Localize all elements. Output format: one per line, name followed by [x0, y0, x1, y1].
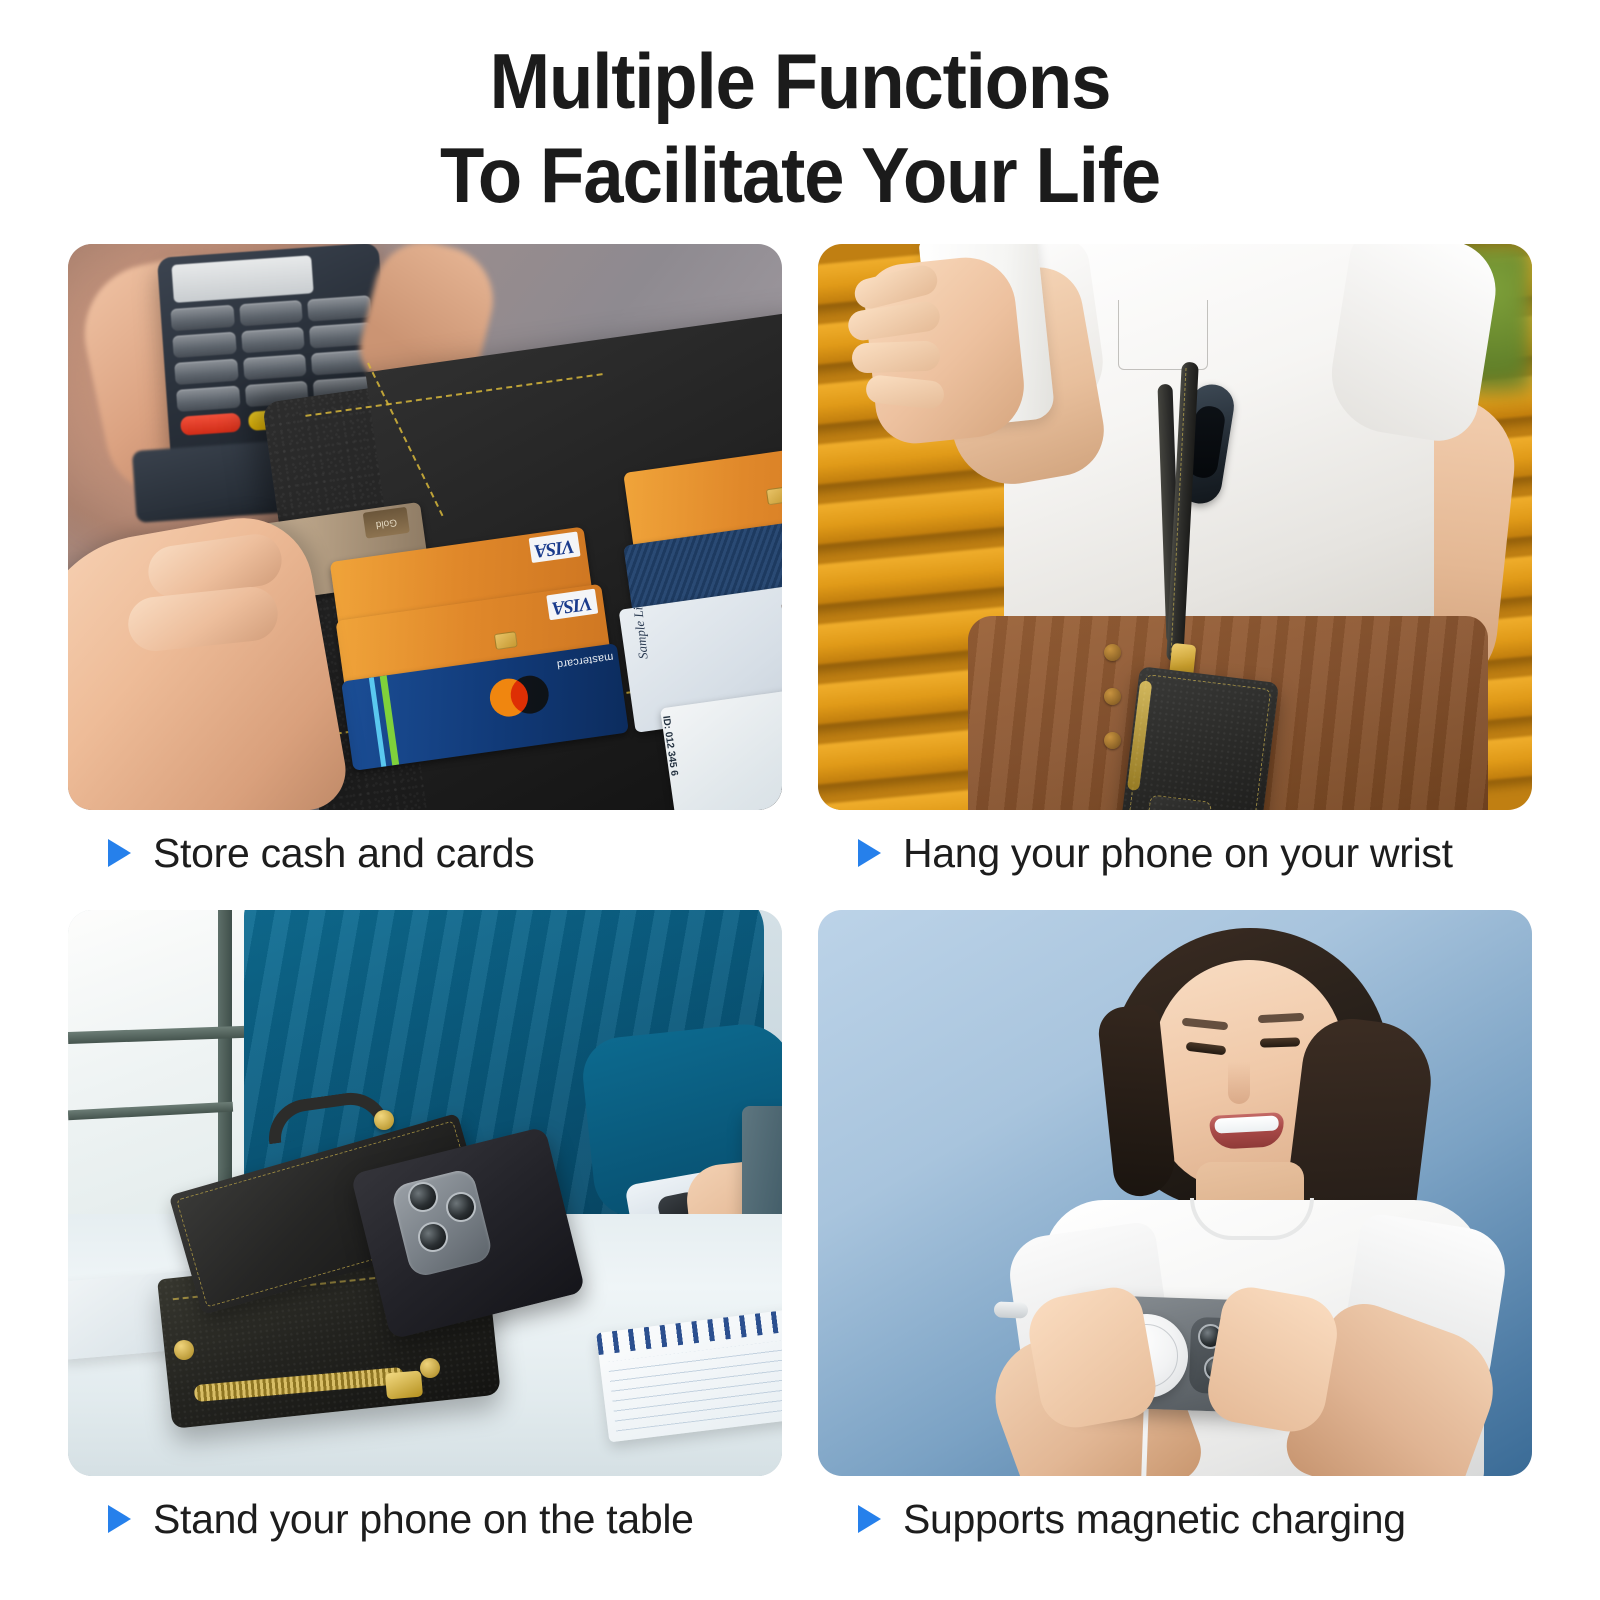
terminal-key: [243, 354, 307, 380]
terminal-key: [241, 327, 305, 353]
feature-cell-store-cash-and-cards: VISA Sample License DRL ID: 012 345 6 Go…: [68, 244, 782, 810]
phone-button: [994, 1301, 1029, 1318]
terminal-key: [172, 332, 236, 358]
caption-label: Store cash and cards: [153, 830, 534, 876]
feature-cell-hang-your-phone-on-your-wrist: Hang your phone on your wrist: [818, 244, 1532, 810]
terminal-cancel-button-red: [180, 413, 241, 436]
wallet-snap-flap: [1144, 794, 1212, 810]
caption-stand-your-phone-on-the-table: Stand your phone on the table: [108, 1496, 694, 1542]
caption-store-cash-and-cards: Store cash and cards: [108, 830, 534, 876]
wallet-stitching: [1125, 674, 1272, 810]
skirt-button: [1104, 688, 1121, 705]
snap-stud-icon: [374, 1110, 394, 1130]
id-photo: [781, 593, 782, 690]
photo-stand-your-phone-on-the-table: [68, 910, 782, 1476]
caption-label: Supports magnetic charging: [903, 1496, 1406, 1542]
feature-grid: VISA Sample License DRL ID: 012 345 6 Go…: [68, 244, 1532, 1476]
feature-cell-supports-magnetic-charging: Supports magnetic charging: [818, 910, 1532, 1476]
marketing-infographic: Multiple Functions To Facilitate Your Li…: [0, 0, 1600, 1600]
finger: [852, 340, 941, 373]
terminal-key: [174, 359, 238, 385]
visa-logo: VISA: [546, 589, 598, 621]
nose: [1228, 1062, 1250, 1104]
caption-supports-magnetic-charging: Supports magnetic charging: [858, 1496, 1406, 1542]
eye: [1260, 1037, 1300, 1047]
skirt-button: [1104, 644, 1121, 661]
title-line-1: Multiple Functions: [56, 34, 1544, 128]
bullet-triangle-icon: [108, 1505, 131, 1533]
caption-label: Stand your phone on the table: [153, 1496, 694, 1542]
bullet-triangle-icon: [858, 1505, 881, 1533]
mastercard-wordmark: mastercard: [556, 651, 614, 671]
bullet-triangle-icon: [858, 839, 881, 867]
terminal-key: [239, 300, 303, 326]
teeth: [1214, 1115, 1279, 1133]
photo-supports-magnetic-charging: [818, 910, 1532, 1476]
blouse-pocket: [1118, 300, 1208, 370]
terminal-key: [170, 305, 234, 331]
skirt-button: [1104, 732, 1121, 749]
page-title: Multiple Functions To Facilitate Your Li…: [0, 34, 1600, 222]
card-chip-icon: [766, 486, 782, 505]
terminal-key: [307, 295, 371, 321]
terminal-key: [176, 386, 240, 412]
case-eyelet: [174, 1340, 194, 1360]
feature-cell-stand-your-phone-on-the-table: Stand your phone on the table: [68, 910, 782, 1476]
case-eyelet: [420, 1358, 440, 1378]
card-chip-icon: [494, 631, 518, 650]
card-gold-band: Gold: [363, 507, 410, 539]
photo-store-cash-and-cards: VISA Sample License DRL ID: 012 345 6 Go…: [68, 244, 782, 810]
visa-logo: VISA: [528, 532, 580, 564]
wallet-phone-case: [1117, 666, 1279, 810]
title-line-2: To Facilitate Your Life: [56, 128, 1544, 222]
caption-label: Hang your phone on your wrist: [903, 830, 1453, 876]
terminal-screen: [171, 255, 313, 303]
photo-hang-your-phone-on-your-wrist: [818, 244, 1532, 810]
bullet-triangle-icon: [108, 839, 131, 867]
mastercard-logo-icon: [487, 672, 556, 721]
caption-hang-your-phone-on-your-wrist: Hang your phone on your wrist: [858, 830, 1453, 876]
zipper-pull: [385, 1370, 423, 1399]
